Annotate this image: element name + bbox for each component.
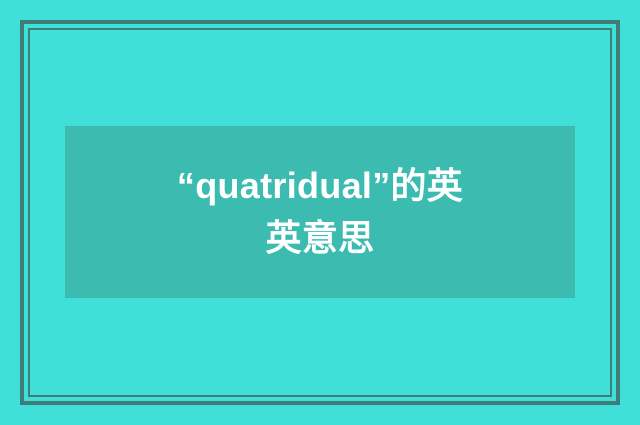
page-title: “quatridual”的英英意思	[170, 160, 470, 264]
page-canvas: “quatridual”的英英意思	[0, 0, 640, 425]
title-panel: “quatridual”的英英意思	[65, 126, 575, 298]
